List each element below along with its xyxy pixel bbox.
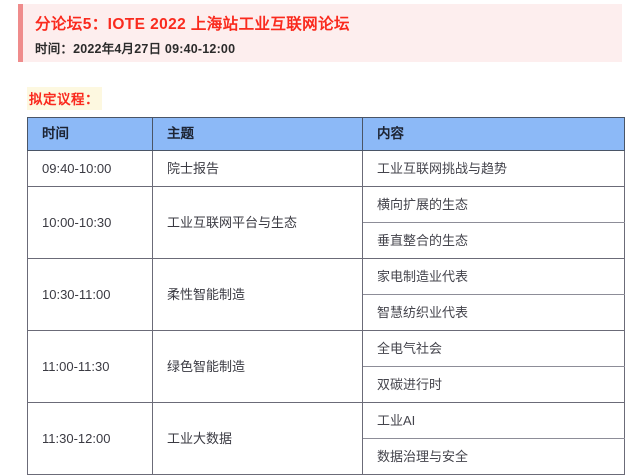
agenda-topic: 工业大数据: [153, 403, 363, 475]
agenda-content: 全电气社会: [363, 331, 625, 367]
column-header-content: 内容: [363, 118, 625, 151]
banner-accent-bar: [18, 4, 23, 62]
agenda-table-body: 09:40-10:00 院士报告 工业互联网挑战与趋势 10:00-10:30 …: [28, 151, 625, 475]
table-row: 09:40-10:00 院士报告 工业互联网挑战与趋势: [28, 151, 625, 187]
table-row: 10:30-11:00 柔性智能制造 家电制造业代表: [28, 259, 625, 295]
agenda-content: 智慧纺织业代表: [363, 295, 625, 331]
agenda-time: 11:00-11:30: [28, 331, 153, 403]
forum-banner: 分论坛5：IOTE 2022 上海站工业互联网论坛 时间：2022年4月27日 …: [18, 4, 622, 62]
banner-datetime: 时间：2022年4月27日 09:40-12:00: [35, 38, 235, 57]
column-header-time: 时间: [28, 118, 153, 151]
agenda-content: 工业AI: [363, 403, 625, 439]
agenda-time: 11:30-12:00: [28, 403, 153, 475]
agenda-section-label: 拟定议程：: [27, 87, 102, 110]
agenda-topic: 绿色智能制造: [153, 331, 363, 403]
table-row: 11:30-12:00 工业大数据 工业AI: [28, 403, 625, 439]
agenda-content: 工业互联网挑战与趋势: [363, 151, 625, 187]
agenda-content: 垂直整合的生态: [363, 223, 625, 259]
agenda-time: 09:40-10:00: [28, 151, 153, 187]
column-header-topic: 主题: [153, 118, 363, 151]
agenda-content: 家电制造业代表: [363, 259, 625, 295]
agenda-time: 10:00-10:30: [28, 187, 153, 259]
agenda-time: 10:30-11:00: [28, 259, 153, 331]
agenda-content: 横向扩展的生态: [363, 187, 625, 223]
agenda-content: 双碳进行时: [363, 367, 625, 403]
table-header-row: 时间 主题 内容: [28, 118, 625, 151]
page-title: 分论坛5：IOTE 2022 上海站工业互联网论坛: [35, 12, 350, 34]
agenda-table-head: 时间 主题 内容: [28, 118, 625, 151]
table-row: 11:00-11:30 绿色智能制造 全电气社会: [28, 331, 625, 367]
table-row: 10:00-10:30 工业互联网平台与生态 横向扩展的生态: [28, 187, 625, 223]
agenda-topic: 院士报告: [153, 151, 363, 187]
agenda-table: 时间 主题 内容 09:40-10:00 院士报告 工业互联网挑战与趋势 10:…: [27, 117, 625, 475]
agenda-topic: 工业互联网平台与生态: [153, 187, 363, 259]
agenda-content: 数据治理与安全: [363, 439, 625, 475]
agenda-topic: 柔性智能制造: [153, 259, 363, 331]
